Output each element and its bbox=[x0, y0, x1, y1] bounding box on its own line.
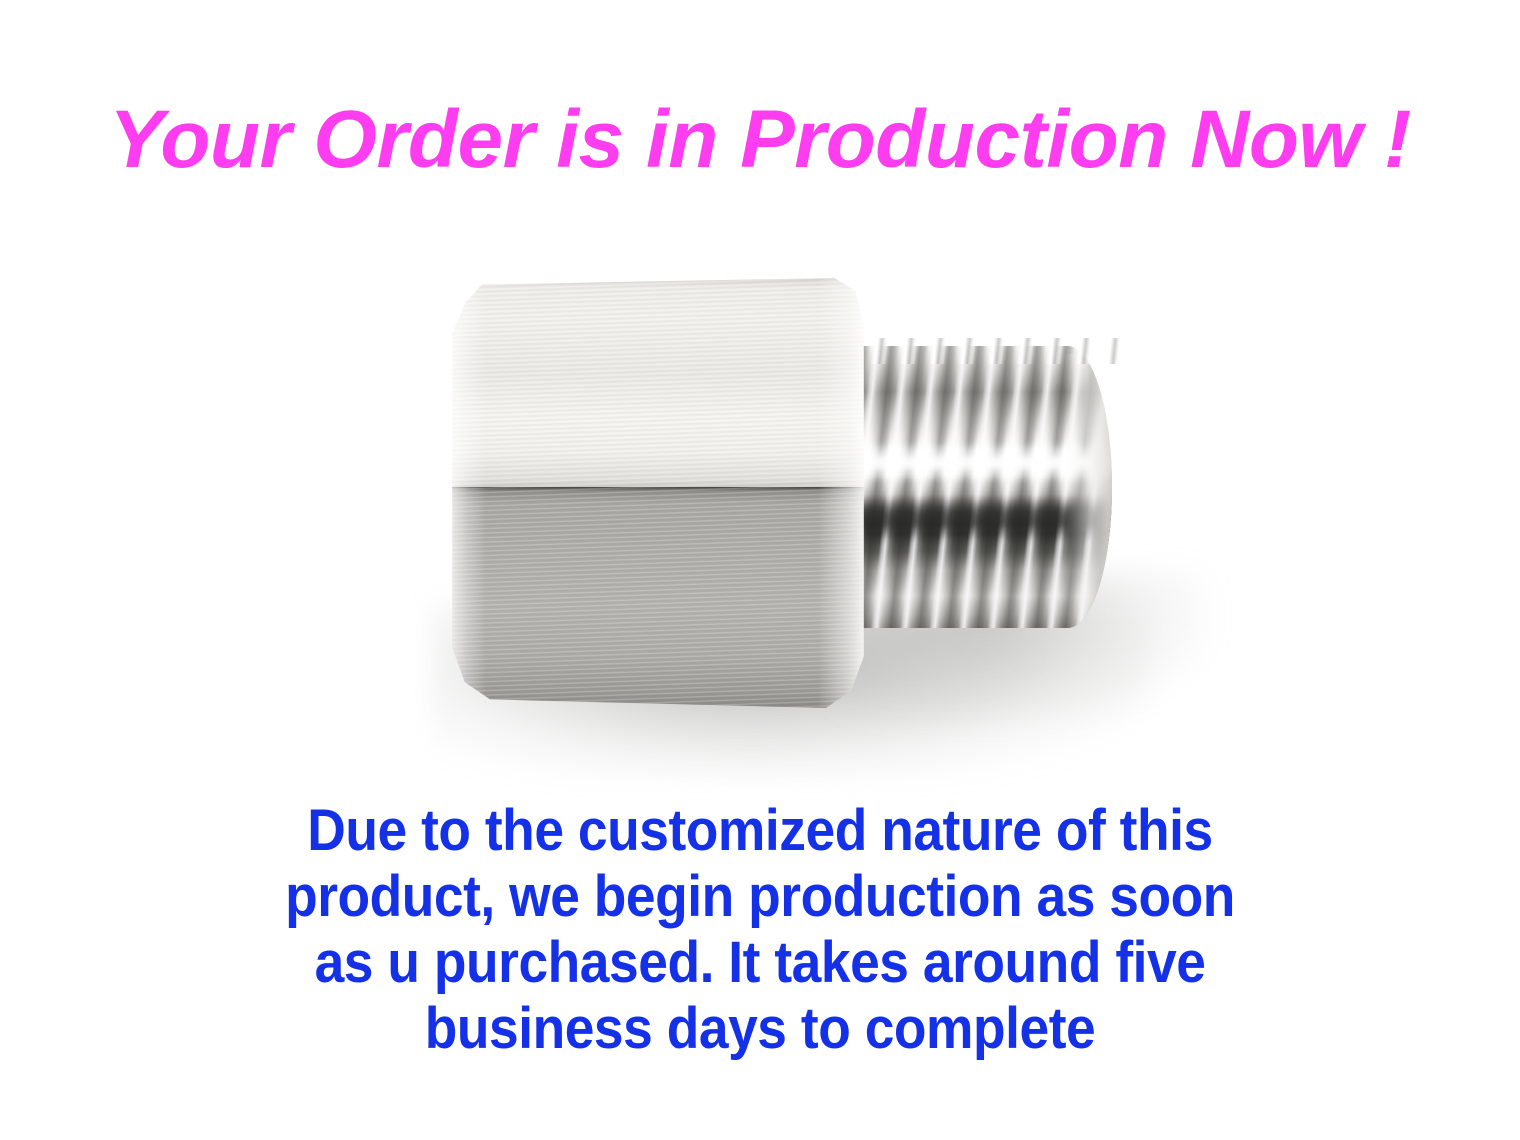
production-notice: Due to the customized nature of this pro… bbox=[0, 798, 1520, 1062]
thread-end-cap bbox=[1064, 354, 1112, 628]
hex-body bbox=[448, 278, 868, 708]
pipe-thread bbox=[840, 340, 1130, 640]
thread-crest-silhouette bbox=[836, 338, 1126, 364]
notice-line: as u purchased. It takes around five bbox=[61, 930, 1459, 996]
product-photo bbox=[360, 240, 1200, 800]
machining-striations bbox=[448, 278, 868, 708]
thread-barrel bbox=[840, 346, 1112, 628]
hex-right-chamfer bbox=[818, 278, 868, 708]
notice-line: Due to the customized nature of this bbox=[61, 798, 1459, 864]
page-title: Your Order is in Production Now ! bbox=[0, 92, 1520, 188]
notice-line: business days to complete bbox=[61, 996, 1459, 1062]
notice-line: product, we begin production as soon bbox=[61, 864, 1459, 930]
promo-image-canvas: Your Order is in Production Now ! Due to… bbox=[0, 0, 1520, 1140]
hex-left-chamfer bbox=[448, 278, 486, 708]
